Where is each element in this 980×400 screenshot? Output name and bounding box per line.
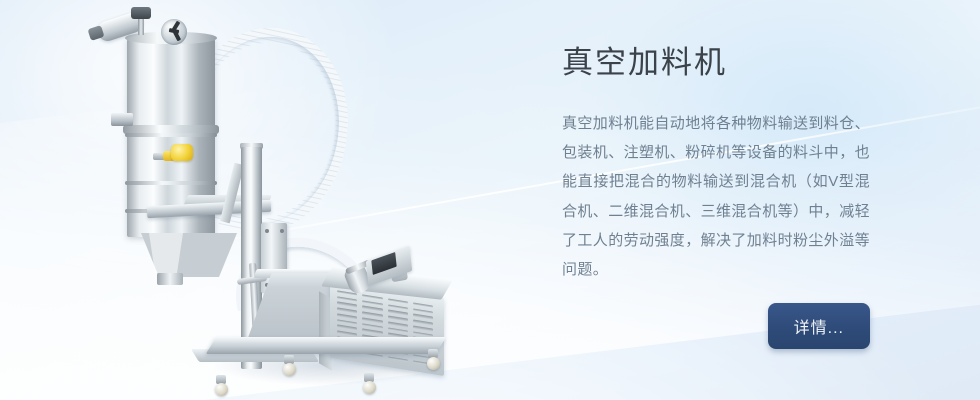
vent-slot — [362, 323, 382, 329]
mount-screw — [265, 229, 269, 233]
discharge-cone-highlight — [149, 233, 183, 273]
hopper-band — [125, 133, 217, 137]
vent-slot — [362, 317, 382, 323]
vent-slot — [388, 304, 408, 310]
side-nozzle — [111, 113, 133, 126]
caster-wheel — [283, 363, 296, 376]
product-description: 真空加料机能自动地将各种物料输送到料仓、包装机、注塑机、粉碎机等设备的料斗中，也… — [562, 109, 870, 285]
vent-slot — [362, 329, 382, 335]
vent-slot — [337, 308, 357, 314]
vent-slot — [388, 316, 408, 322]
mount-screw — [280, 229, 284, 233]
vent-slot — [337, 302, 357, 308]
vent-slot — [337, 296, 357, 302]
cart-base-frame — [206, 337, 447, 354]
vent-slot — [413, 331, 433, 337]
vent-slot — [337, 319, 357, 325]
vent-slot — [337, 331, 357, 337]
vent-slot — [413, 320, 433, 326]
vent-slot — [362, 312, 382, 318]
discharge-outlet — [157, 273, 183, 285]
vent-slot — [362, 300, 382, 306]
product-image-vacuum-feeder — [75, 5, 465, 397]
details-button[interactable]: 详情... — [768, 303, 870, 349]
caster-wheel — [215, 383, 228, 396]
vent-slot — [388, 321, 408, 327]
vent-slot — [388, 310, 408, 316]
caster-wheel — [363, 381, 376, 394]
caster-wheel — [427, 357, 440, 370]
vent-slot — [413, 314, 433, 320]
banner-text-block: 真空加料机 真空加料机能自动地将各种物料输送到料仓、包装机、注塑机、粉碎机等设备… — [562, 44, 870, 284]
hopper-band — [125, 181, 217, 185]
vent-slot — [413, 325, 433, 331]
vent-slot — [388, 327, 408, 333]
cta-row: 详情... — [562, 303, 870, 349]
vent-slot — [413, 308, 433, 314]
yellow-pneumatic-fitting — [171, 144, 193, 161]
pressure-gauge — [131, 7, 151, 19]
vent-slot — [337, 325, 357, 331]
vent-slot — [337, 313, 357, 319]
vent-slot — [362, 306, 382, 312]
product-banner: 真空加料机 真空加料机能自动地将各种物料输送到料仓、包装机、注塑机、粉碎机等设备… — [0, 0, 980, 400]
product-title: 真空加料机 — [562, 44, 870, 83]
